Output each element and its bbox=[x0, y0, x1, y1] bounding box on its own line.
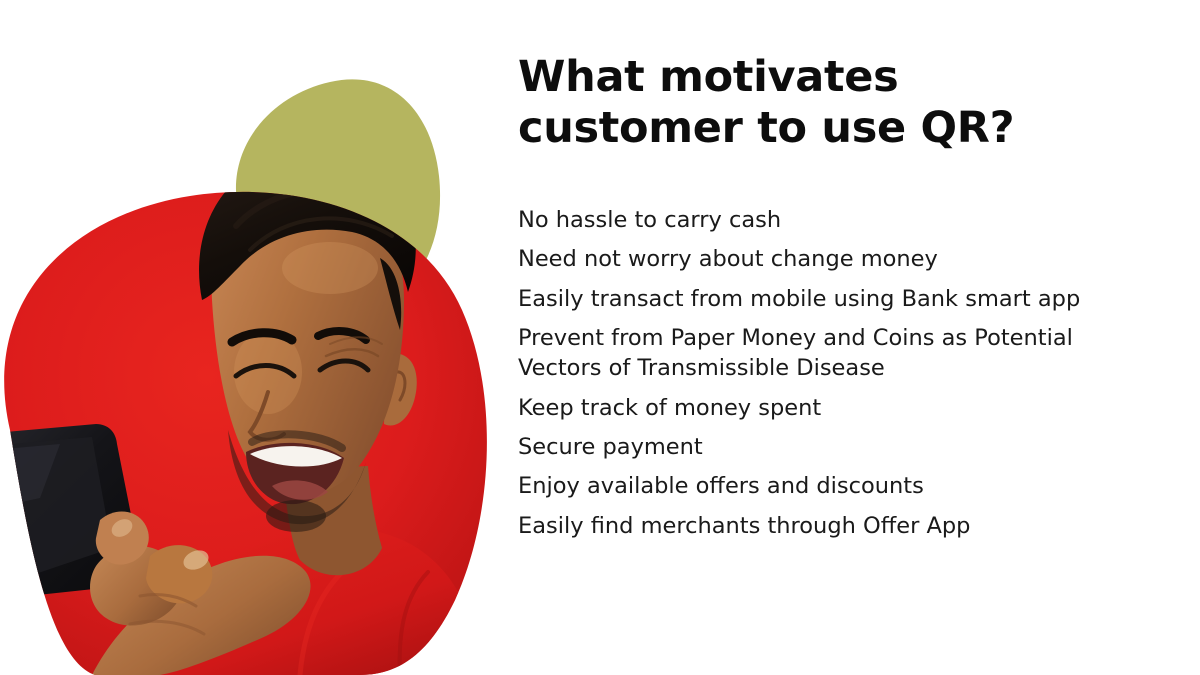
list-item: Easily find merchants through Offer App bbox=[518, 512, 1158, 542]
slide-root: What motivates customer to use QR? No ha… bbox=[0, 0, 1200, 675]
list-item: Easily transact from mobile using Bank s… bbox=[518, 285, 1158, 315]
list-item: Prevent from Paper Money and Coins as Po… bbox=[518, 324, 1158, 384]
benefits-list: No hassle to carry cash Need not worry a… bbox=[518, 206, 1158, 542]
list-item: Need not worry about change money bbox=[518, 245, 1158, 275]
list-item: Secure payment bbox=[518, 433, 1158, 463]
list-item: Enjoy available offers and discounts bbox=[518, 472, 1158, 502]
page-title: What motivates customer to use QR? bbox=[518, 52, 1138, 153]
list-item: No hassle to carry cash bbox=[518, 206, 1158, 236]
text-column: What motivates customer to use QR? bbox=[518, 52, 1138, 153]
list-item: Keep track of money spent bbox=[518, 394, 1158, 424]
hero-artwork bbox=[0, 0, 500, 675]
